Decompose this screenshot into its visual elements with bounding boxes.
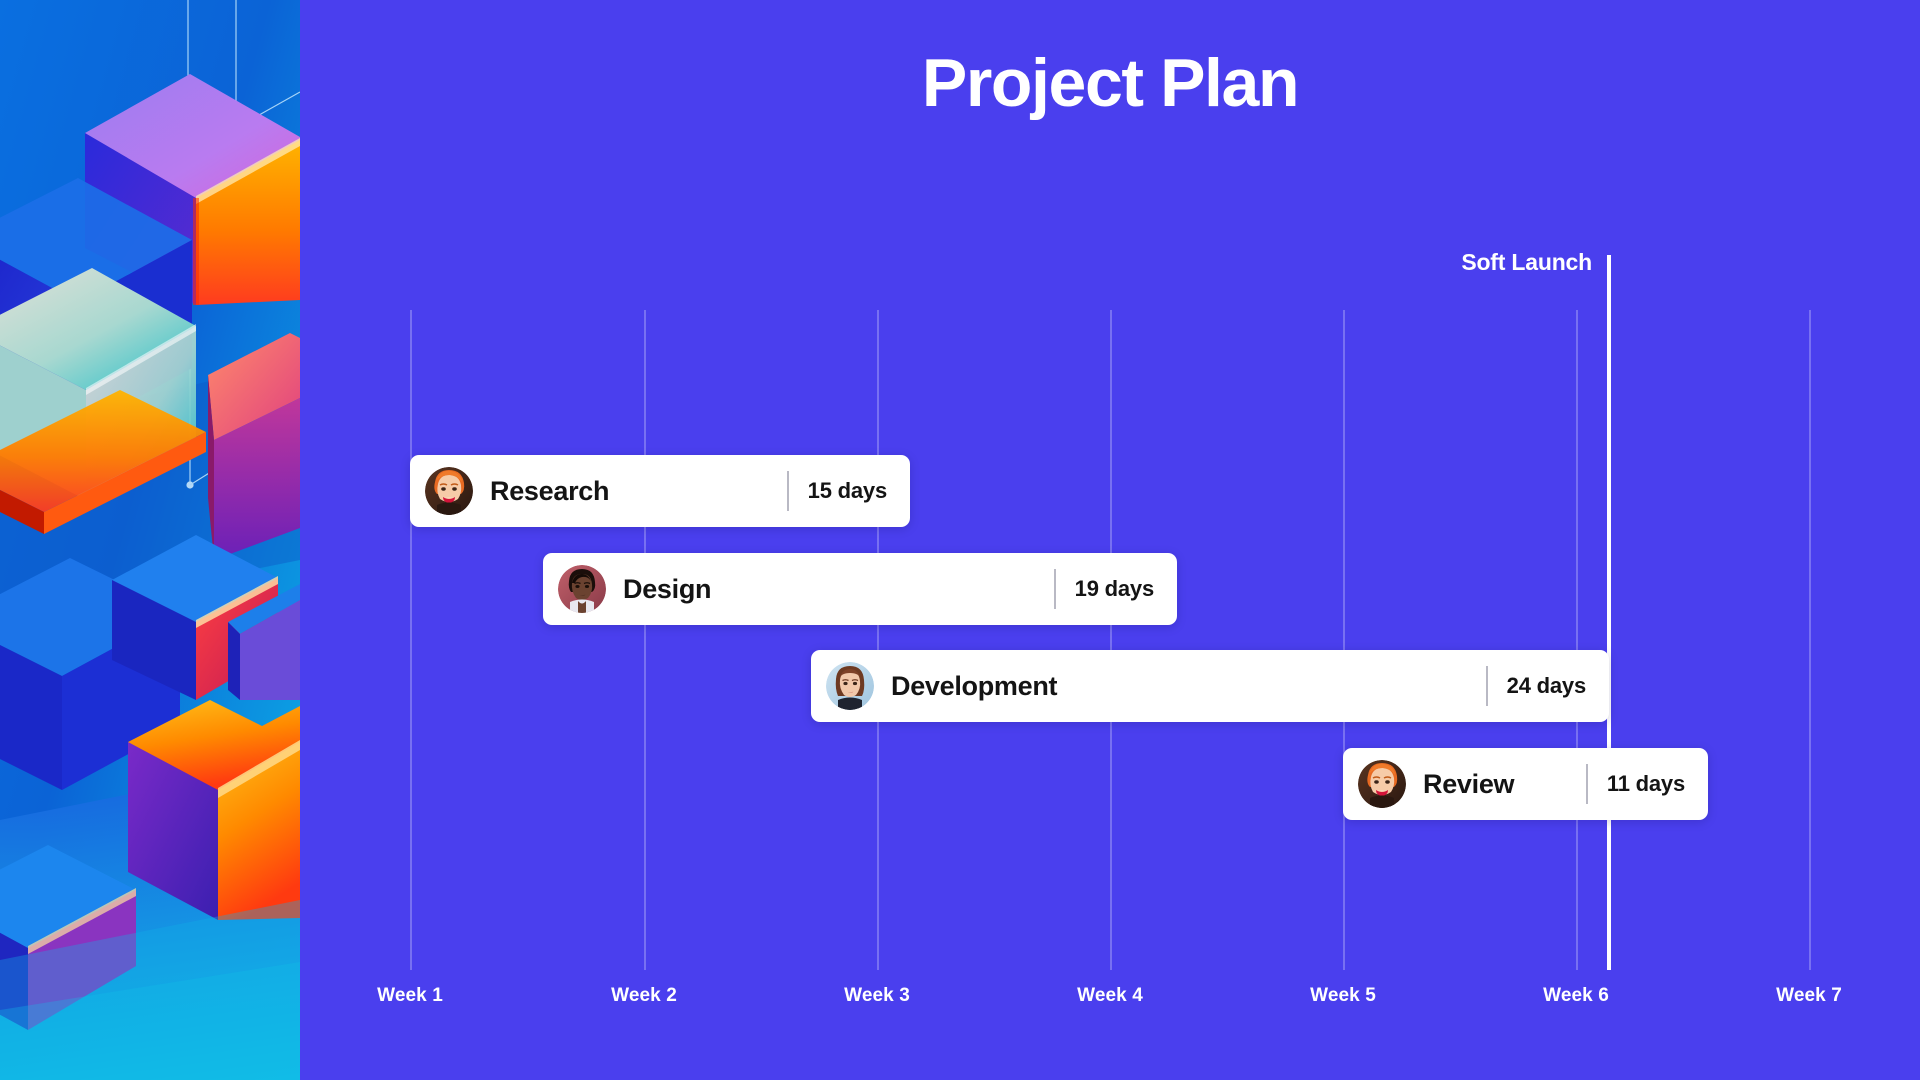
gridline-week-3 bbox=[877, 310, 879, 970]
axis-tick-week-2: Week 2 bbox=[611, 985, 677, 1007]
axis-tick-week-1: Week 1 bbox=[377, 985, 443, 1007]
task-duration-group: 24 days bbox=[1486, 650, 1609, 722]
gridline-week-1 bbox=[410, 310, 412, 970]
task-duration: 15 days bbox=[789, 478, 910, 504]
gridline-week-6 bbox=[1576, 310, 1578, 970]
axis-tick-week-7: Week 7 bbox=[1776, 985, 1842, 1007]
gantt-chart: Week 1 Week 2 Week 3 Week 4 Week 5 Week … bbox=[0, 0, 1920, 1080]
avatar-dark-skin-icon bbox=[558, 565, 606, 613]
task-duration-group: 19 days bbox=[1054, 553, 1177, 625]
axis-tick-week-6: Week 6 bbox=[1543, 985, 1609, 1007]
task-duration-group: 15 days bbox=[787, 455, 910, 527]
task-name: Development bbox=[891, 671, 1486, 702]
gridline-week-2 bbox=[644, 310, 646, 970]
avatar bbox=[1358, 760, 1406, 808]
task-duration: 24 days bbox=[1488, 673, 1609, 699]
gridline-week-7 bbox=[1809, 310, 1811, 970]
avatar bbox=[425, 467, 473, 515]
task-duration: 19 days bbox=[1056, 576, 1177, 602]
milestone-label: Soft Launch bbox=[1461, 249, 1609, 276]
task-name: Design bbox=[623, 574, 1054, 605]
axis-tick-week-3: Week 3 bbox=[844, 985, 910, 1007]
task-bar-research[interactable]: Research 15 days bbox=[410, 455, 910, 527]
gridline-week-4 bbox=[1110, 310, 1112, 970]
task-duration-group: 11 days bbox=[1586, 748, 1708, 820]
avatar-red-hair-icon bbox=[425, 467, 473, 515]
task-bar-design[interactable]: Design 19 days bbox=[543, 553, 1177, 625]
avatar bbox=[826, 662, 874, 710]
task-name: Research bbox=[490, 476, 787, 507]
avatar-auburn-hair-icon bbox=[826, 662, 874, 710]
avatar-red-hair-icon bbox=[1358, 760, 1406, 808]
task-name: Review bbox=[1423, 769, 1586, 800]
slide-canvas: Project Plan Week 1 Week 2 Week 3 Week 4… bbox=[0, 0, 1920, 1080]
task-duration: 11 days bbox=[1588, 771, 1708, 797]
task-bar-review[interactable]: Review 11 days bbox=[1343, 748, 1708, 820]
task-bar-development[interactable]: Development 24 days bbox=[811, 650, 1609, 722]
axis-tick-week-5: Week 5 bbox=[1310, 985, 1376, 1007]
milestone-line bbox=[1607, 255, 1611, 970]
axis-tick-week-4: Week 4 bbox=[1077, 985, 1143, 1007]
gridline-week-5 bbox=[1343, 310, 1345, 970]
avatar bbox=[558, 565, 606, 613]
